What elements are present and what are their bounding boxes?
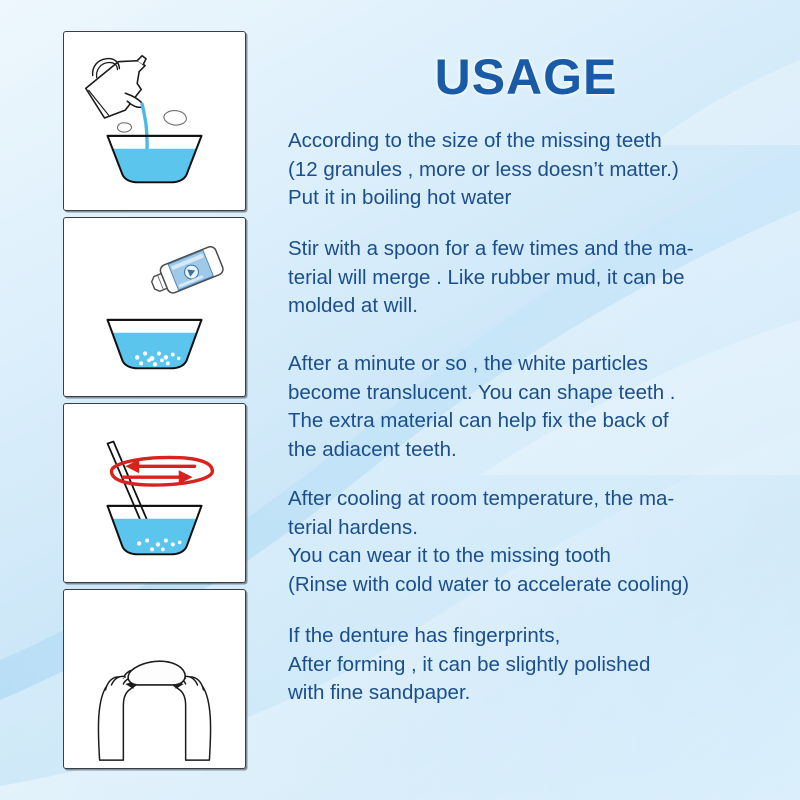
paragraph-5-line-1: If the denture has fingerprints, (288, 622, 778, 651)
panel-4-hands-shaping (63, 589, 246, 769)
paragraph-3-line-2: become translucent. You can shape teeth … (288, 379, 778, 408)
paragraph-2-line-3: molded at will. (288, 292, 778, 321)
paragraph-5: If the denture has fingerprints, After f… (288, 622, 778, 708)
paragraph-3: After a minute or so , the white particl… (288, 350, 778, 464)
paragraph-2: Stir with a spoon for a few times and th… (288, 235, 778, 321)
page-title: USAGE (288, 52, 764, 102)
stirring-rod-with-circular-arrows-icon (64, 404, 245, 582)
text-content: USAGE According to the size of the missi… (288, 0, 788, 800)
panel-2-bottle-granules (63, 217, 246, 397)
paragraph-1-line-3: Put it in boiling hot water (288, 184, 778, 213)
kettle-pouring-water-into-bowl-icon (64, 32, 245, 210)
paragraph-5-line-2: After forming , it can be slightly polis… (288, 651, 778, 680)
paragraph-3-line-4: the adiacent teeth. (288, 436, 778, 465)
paragraph-3-line-1: After a minute or so , the white particl… (288, 350, 778, 379)
paragraph-4-line-2: terial hardens. (288, 514, 778, 543)
paragraph-1-line-1: According to the size of the missing tee… (288, 127, 778, 156)
illustration-panel-column (63, 31, 248, 775)
paragraph-3-line-3: The extra material can help fix the back… (288, 407, 778, 436)
paragraph-4-line-3: You can wear it to the missing tooth (288, 542, 778, 571)
usage-infographic: USAGE According to the size of the missi… (0, 0, 800, 800)
panel-3-stirring (63, 403, 246, 583)
paragraph-1: According to the size of the missing tee… (288, 127, 778, 213)
hands-shaping-denture-icon (64, 590, 245, 768)
paragraph-5-line-3: with fine sandpaper. (288, 679, 778, 708)
paragraph-4-line-4: (Rinse with cold water to accelerate coo… (288, 571, 778, 600)
paragraph-2-line-1: Stir with a spoon for a few times and th… (288, 235, 778, 264)
paragraph-1-line-2: (12 granules , more or less doesn’t matt… (288, 156, 778, 185)
paragraph-4-line-1: After cooling at room temperature, the m… (288, 485, 778, 514)
paragraph-2-line-2: terial will merge . Like rubber mud, it … (288, 264, 778, 293)
paragraph-4: After cooling at room temperature, the m… (288, 485, 778, 599)
panel-1-kettle-pouring (63, 31, 246, 211)
bottle-pouring-granules-into-bowl-icon (64, 218, 245, 396)
